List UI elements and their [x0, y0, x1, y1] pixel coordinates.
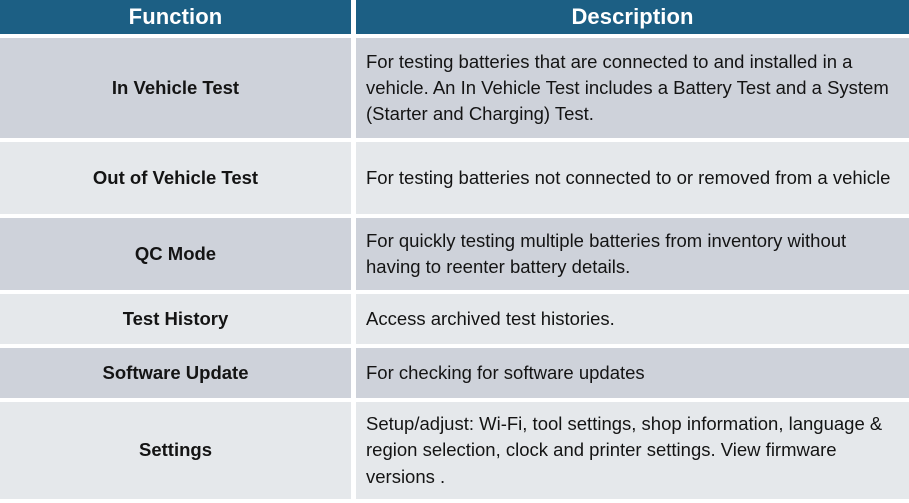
- cell-function-description: Setup/adjust: Wi-Fi, tool settings, shop…: [356, 402, 909, 499]
- table-row: QC Mode For quickly testing multiple bat…: [0, 218, 909, 290]
- cell-function-description: Access archived test histories.: [356, 294, 909, 344]
- table-row: Out of Vehicle Test For testing batterie…: [0, 142, 909, 214]
- table-header: Function Description: [0, 0, 909, 34]
- table-row: Software Update For checking for softwar…: [0, 348, 909, 398]
- description-text: For checking for software updates: [366, 360, 895, 386]
- table-row: Test History Access archived test histor…: [0, 294, 909, 344]
- table-body: In Vehicle Test For testing batteries th…: [0, 38, 909, 499]
- table-header-row: Function Description: [0, 0, 909, 34]
- cell-function-name: Out of Vehicle Test: [0, 142, 351, 214]
- cell-function-description: For quickly testing multiple batteries f…: [356, 218, 909, 290]
- table-row: In Vehicle Test For testing batteries th…: [0, 38, 909, 138]
- description-text: Setup/adjust: Wi-Fi, tool settings, shop…: [366, 411, 895, 490]
- description-text: Access archived test histories.: [366, 306, 895, 332]
- description-text: For testing batteries not connected to o…: [366, 165, 895, 191]
- column-header-function: Function: [0, 0, 351, 34]
- cell-function-name: Settings: [0, 402, 351, 499]
- column-header-description: Description: [356, 0, 909, 34]
- cell-function-name: QC Mode: [0, 218, 351, 290]
- cell-function-name: In Vehicle Test: [0, 38, 351, 138]
- cell-function-description: For testing batteries not connected to o…: [356, 142, 909, 214]
- cell-function-description: For testing batteries that are connected…: [356, 38, 909, 138]
- cell-function-name: Software Update: [0, 348, 351, 398]
- table-row: Settings Setup/adjust: Wi-Fi, tool setti…: [0, 402, 909, 499]
- function-description-table: Function Description In Vehicle Test For…: [0, 0, 909, 503]
- description-text: For testing batteries that are connected…: [366, 49, 895, 128]
- cell-function-name: Test History: [0, 294, 351, 344]
- function-description-table-container: Function Description In Vehicle Test For…: [0, 0, 909, 426]
- cell-function-description: For checking for software updates: [356, 348, 909, 398]
- description-text: For quickly testing multiple batteries f…: [366, 228, 895, 281]
